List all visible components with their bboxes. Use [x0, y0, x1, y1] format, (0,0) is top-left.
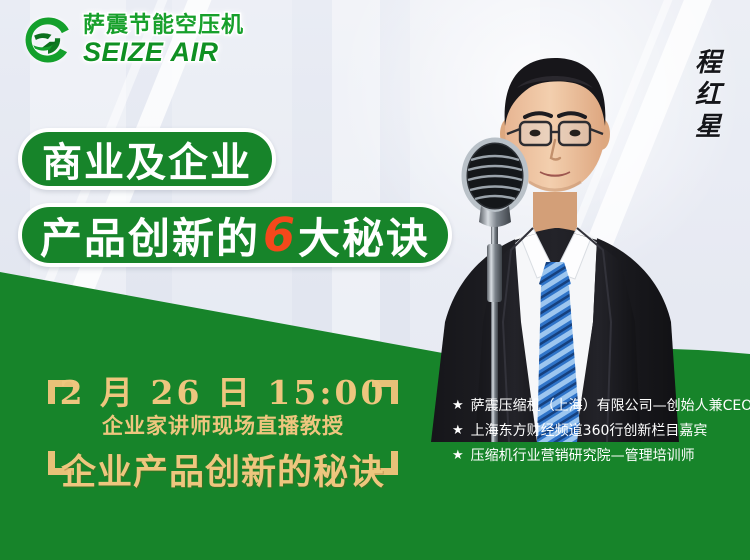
speaker-name-vertical: 程 红 星 [688, 50, 728, 140]
brand-name-en-2: ZE AIR [128, 39, 219, 66]
speaker-portrait [425, 22, 725, 442]
list-item: ★ 压缩机行业营销研究院—管理培训师 [452, 448, 742, 464]
speaker-name-char-1: 程 [695, 50, 721, 76]
credentials-list: ★ 萨震压缩机（上海）有限公司—创始人兼CEO ★ 上海东方财经频道360行创新… [452, 398, 742, 464]
star-icon: ★ [452, 448, 464, 464]
credential-text: 压缩机行业营销研究院—管理培训师 [471, 448, 695, 464]
headline-pill-primary: 商业及企业 [18, 128, 276, 190]
star-icon: ★ [452, 423, 464, 439]
brand-logo[interactable]: 萨震节能空压机 SEIZE AIR [22, 14, 244, 66]
brand-name-en-1: SE [83, 39, 120, 66]
headline-line2-after: 大秘诀 [298, 205, 430, 266]
speaker-name-char-2: 红 [695, 82, 721, 108]
headline-number: 6 [260, 208, 298, 262]
headline-pill-secondary: 产品创新的6大秘诀 [18, 203, 452, 267]
credential-text: 上海东方财经频道360行创新栏目嘉宾 [471, 423, 708, 439]
brand-name-en-accent: I [120, 39, 128, 66]
event-subtitle: 企业家讲师现场直播教授 [48, 410, 398, 440]
event-info-block: 2 月 26 日 15:00 企业家讲师现场直播教授 企业产品创新的秘诀 [48, 358, 398, 498]
poster-canvas: 萨震节能空压机 SEIZE AIR 商业及企业 产品创新的6大秘诀 程 红 星 … [0, 0, 750, 560]
sz-circle-logo-icon [22, 14, 74, 66]
brand-name-cn: 萨震节能空压机 [83, 15, 244, 37]
list-item: ★ 上海东方财经频道360行创新栏目嘉宾 [452, 423, 742, 439]
event-datetime: 2 月 26 日 15:00 [48, 366, 398, 414]
event-topic: 企业产品创新的秘诀 [48, 444, 398, 495]
speaker-name-char-3: 星 [695, 114, 721, 140]
credential-text: 萨震压缩机（上海）有限公司—创始人兼CEO [471, 398, 750, 414]
headline-line1: 商业及企业 [42, 130, 252, 188]
star-icon: ★ [452, 398, 464, 414]
headline-line2-before: 产品创新的 [40, 205, 260, 266]
list-item: ★ 萨震压缩机（上海）有限公司—创始人兼CEO [452, 398, 742, 414]
